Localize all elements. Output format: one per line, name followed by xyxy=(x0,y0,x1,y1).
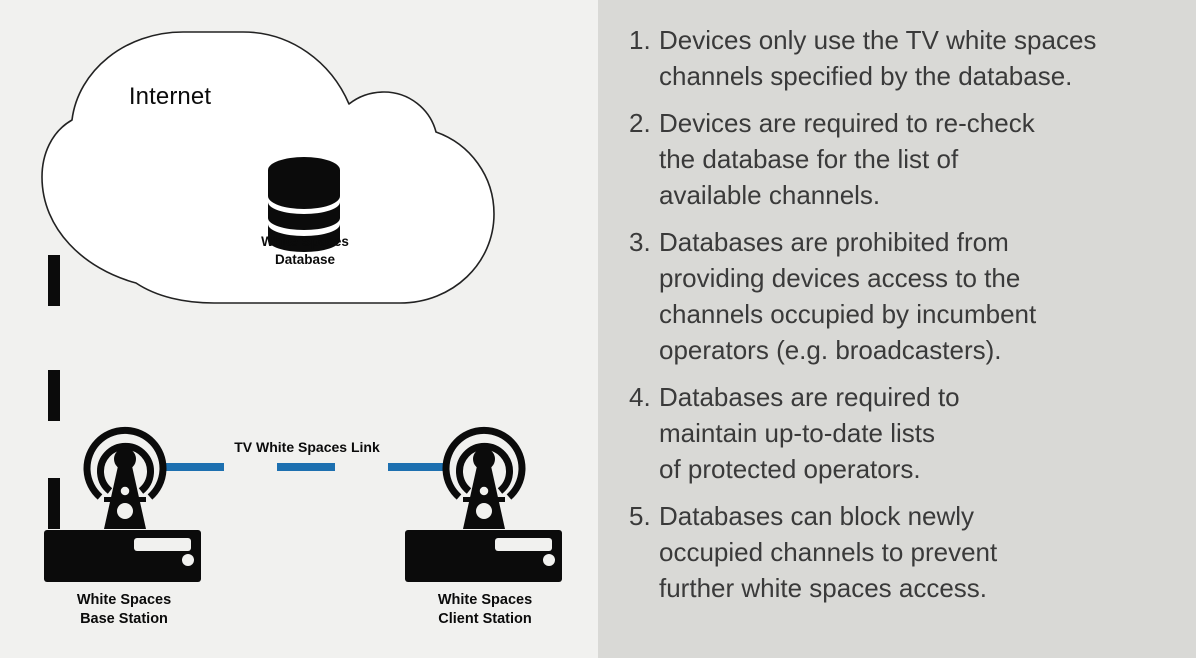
link-dash-1 xyxy=(166,463,224,471)
rule-number: 4. xyxy=(629,379,659,415)
client-station-mast-hole-upper xyxy=(479,486,490,497)
rule-number: 1. xyxy=(629,22,659,58)
rule-item: 4. Databases are required to maintain up… xyxy=(629,379,1174,487)
rule-number: 3. xyxy=(629,224,659,260)
client-station-chassis xyxy=(405,530,562,582)
rule-text: Databases are prohibited from providing … xyxy=(659,224,1174,368)
link-dash-2 xyxy=(277,463,335,471)
white-spaces-client-station-label: White Spaces Client Station xyxy=(405,591,565,629)
rule-text: Devices are required to re-check the dat… xyxy=(659,105,1174,213)
backhaul-dash-2 xyxy=(48,370,60,421)
rule-number: 2. xyxy=(629,105,659,141)
tv-white-spaces-link-label: TV White Spaces Link xyxy=(212,439,402,455)
base-station-mast-hole-upper xyxy=(120,486,131,497)
white-spaces-base-station-label: White Spaces Base Station xyxy=(44,591,204,629)
internet-cloud-label: Internet xyxy=(88,83,252,111)
white-spaces-base-station-icon xyxy=(44,430,201,582)
base-station-mast-hole-lower xyxy=(117,503,133,519)
client-station-chassis-led xyxy=(543,554,555,566)
backhaul-dashed-connector xyxy=(48,255,60,529)
white-spaces-database-label: White Spaces Database xyxy=(224,233,386,268)
rule-item: 2. Devices are required to re-check the … xyxy=(629,105,1174,213)
rule-text: Devices only use the TV white spaces cha… xyxy=(659,22,1174,94)
base-station-chassis-led xyxy=(182,554,194,566)
rule-number: 5. xyxy=(629,498,659,534)
rule-item: 3. Databases are prohibited from providi… xyxy=(629,224,1174,368)
slide-canvas: Internet White Spaces Database TV White … xyxy=(0,0,1196,658)
rules-numbered-list: 1. Devices only use the TV white spaces … xyxy=(629,22,1174,617)
rule-item: 1. Devices only use the TV white spaces … xyxy=(629,22,1174,94)
tv-white-spaces-link-dashes xyxy=(166,463,446,471)
base-station-chassis-slot xyxy=(134,538,191,551)
backhaul-dash-1 xyxy=(48,255,60,306)
white-spaces-client-station-icon xyxy=(405,430,562,582)
backhaul-dash-3 xyxy=(48,478,60,529)
rule-text: Databases can block newly occupied chann… xyxy=(659,498,1174,606)
client-station-mast-hole-lower xyxy=(476,503,492,519)
client-station-chassis-slot xyxy=(495,538,552,551)
link-dash-3 xyxy=(388,463,446,471)
rule-item: 5. Databases can block newly occupied ch… xyxy=(629,498,1174,606)
base-station-chassis xyxy=(44,530,201,582)
rule-text: Databases are required to maintain up-to… xyxy=(659,379,1174,487)
